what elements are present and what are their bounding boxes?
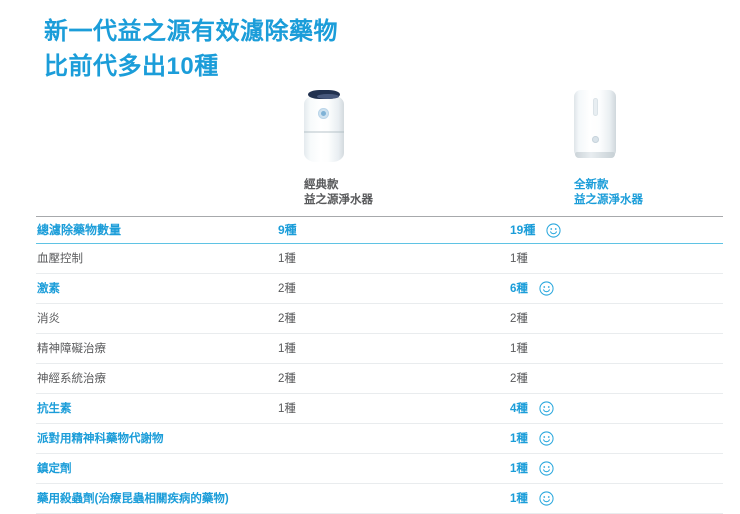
cell-classic-value: 2種 — [278, 312, 510, 326]
cell-new-value-wrap: 19種 — [510, 223, 740, 238]
cell-new-value-wrap: 2種 — [510, 312, 740, 326]
smiley-face-icon — [546, 223, 561, 238]
product-caption-line-1: 經典款 — [304, 178, 373, 193]
table-row: 抗生素1種4種 — [36, 394, 723, 424]
cell-classic-value: 1種 — [278, 342, 510, 356]
cell-new-value: 2種 — [510, 372, 528, 386]
cell-new-value: 1種 — [510, 432, 528, 446]
cell-new-value-wrap: 2種 — [510, 372, 740, 386]
page-title-line-2: 比前代多出10種 — [44, 49, 464, 84]
cell-new-value-wrap: 1種 — [510, 252, 740, 266]
row-label: 血壓控制 — [36, 252, 278, 266]
smiley-face-icon — [539, 461, 554, 476]
cell-new-value-wrap: 1種 — [510, 491, 740, 506]
product-caption-line-2: 益之源淨水器 — [304, 193, 373, 208]
cell-new-value-wrap: 1種 — [510, 461, 740, 476]
page-title: 新一代益之源有效濾除藥物 比前代多出10種 — [44, 14, 464, 84]
row-label: 派對用精神科藥物代謝物 — [36, 432, 278, 446]
table-row: 派對用精神科藥物代謝物1種 — [36, 424, 723, 454]
cell-new-value: 19種 — [510, 223, 535, 237]
row-label: 總濾除藥物數量 — [36, 223, 278, 237]
table-row: 藥用殺蟲劑(治療昆蟲相關疾病的藥物)1種 — [36, 484, 723, 514]
cell-classic-value: 2種 — [278, 372, 510, 386]
row-label: 抗生素 — [36, 402, 278, 416]
table-row: 血壓控制1種1種 — [36, 244, 723, 274]
row-label: 鎮定劑 — [36, 462, 278, 476]
purifier-control-strip — [593, 98, 598, 116]
row-label: 神經系統治療 — [36, 372, 278, 386]
purifier-indicator-icon — [318, 108, 329, 119]
product-caption-line-2: 益之源淨水器 — [574, 193, 643, 208]
purifier-top-rim — [308, 90, 340, 99]
purifier-top-inner — [317, 94, 339, 99]
page-title-line-1: 新一代益之源有效濾除藥物 — [44, 14, 464, 49]
row-label: 精神障礙治療 — [36, 342, 278, 356]
purifier-body — [304, 94, 344, 162]
cell-classic-value: 2種 — [278, 282, 510, 296]
smiley-face-icon — [539, 281, 554, 296]
row-label: 激素 — [36, 282, 278, 296]
table-row: 激素2種6種 — [36, 274, 723, 304]
cell-new-value: 6種 — [510, 282, 528, 296]
water-purifier-classic-icon — [304, 88, 344, 162]
water-purifier-new-icon — [574, 90, 616, 162]
product-caption-new: 全新款 益之源淨水器 — [574, 178, 643, 208]
product-caption-line-1: 全新款 — [574, 178, 643, 193]
table-row: 神經系統治療2種2種 — [36, 364, 723, 394]
cell-classic-value: 1種 — [278, 402, 510, 416]
cell-new-value: 2種 — [510, 312, 528, 326]
product-caption-classic: 經典款 益之源淨水器 — [304, 178, 373, 208]
row-label: 消炎 — [36, 312, 278, 326]
purifier-indicator-icon — [592, 136, 599, 143]
cell-classic-value: 1種 — [278, 252, 510, 266]
comparison-table: 總濾除藥物數量9種19種血壓控制1種1種激素2種6種消炎2種2種精神障礙治療1種… — [36, 216, 723, 514]
product-header: 經典款 益之源淨水器 全新款 益之源淨水器 — [0, 86, 740, 214]
cell-new-value: 1種 — [510, 252, 528, 266]
cell-new-value-wrap: 1種 — [510, 342, 740, 356]
cell-new-value-wrap: 6種 — [510, 281, 740, 296]
table-header-row: 總濾除藥物數量9種19種 — [36, 216, 723, 244]
cell-new-value: 1種 — [510, 342, 528, 356]
smiley-face-icon — [539, 401, 554, 416]
row-label: 藥用殺蟲劑(治療昆蟲相關疾病的藥物) — [36, 492, 278, 506]
cell-new-value: 4種 — [510, 402, 528, 416]
smiley-face-icon — [539, 431, 554, 446]
product-column-classic: 經典款 益之源淨水器 — [268, 86, 468, 214]
purifier-base — [575, 152, 615, 158]
table-row: 消炎2種2種 — [36, 304, 723, 334]
cell-new-value-wrap: 1種 — [510, 431, 740, 446]
product-image-classic — [268, 86, 468, 172]
cell-classic-value: 9種 — [278, 223, 510, 237]
cell-new-value-wrap: 4種 — [510, 401, 740, 416]
table-row: 精神障礙治療1種1種 — [36, 334, 723, 364]
cell-new-value: 1種 — [510, 492, 528, 506]
cell-new-value: 1種 — [510, 462, 528, 476]
product-image-new — [538, 86, 738, 172]
product-column-new: 全新款 益之源淨水器 — [538, 86, 738, 214]
smiley-face-icon — [539, 491, 554, 506]
table-row: 鎮定劑1種 — [36, 454, 723, 484]
purifier-seam — [304, 131, 344, 133]
